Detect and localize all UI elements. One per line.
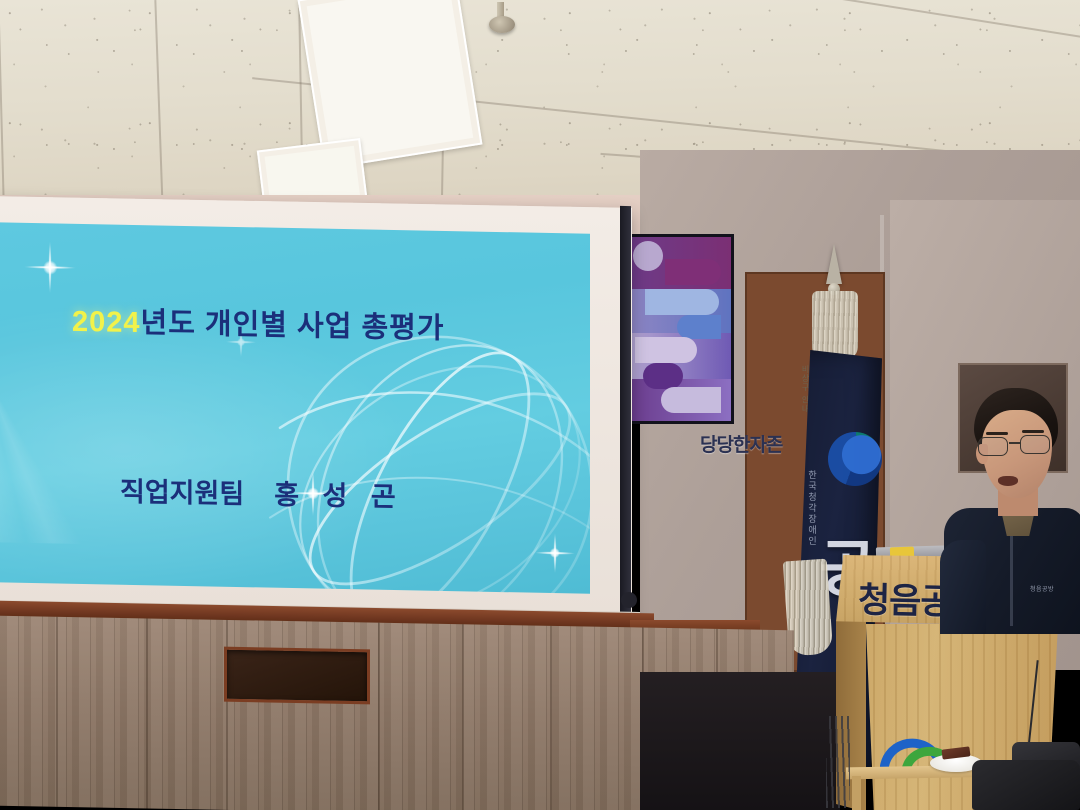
slide-title-rest: 년도 개인별 사업 총평가: [141, 307, 445, 345]
presentation-room-photo: 비상구 안내 당당한자존 한국청각장애인 공: [0, 0, 1080, 810]
panel-seam: [462, 624, 464, 810]
screen-roller-knob[interactable]: [621, 592, 637, 608]
slide-subtitle-team: 직업지원팀: [120, 477, 244, 509]
flag-emblem-icon: [828, 432, 882, 486]
eyeglasses-icon: [978, 435, 1056, 457]
slide-title: 2024년도 개인별 사업 총평가: [72, 298, 445, 347]
wall-banner-poster: [624, 234, 734, 424]
wall-banner-text: 당당한자존: [700, 430, 782, 457]
projected-slide: 2024년도 개인별 사업 총평가 직업지원팀 홍 성 곤: [0, 222, 590, 594]
jacket-logo-text: 청음공방: [1030, 584, 1054, 593]
panel-seam: [56, 617, 58, 807]
banner-logo-art: [627, 237, 731, 421]
light-tube: [307, 0, 474, 160]
globe-wireframe-graphic: [260, 307, 590, 593]
panel-seam: [146, 618, 148, 808]
panel-seam: [378, 623, 380, 810]
floor-shadow-area: [640, 672, 840, 810]
speaker-person: 청음공방: [938, 388, 1080, 628]
slide-subtitle: 직업지원팀 홍 성 곤: [120, 470, 404, 514]
smoke-detector-icon: [489, 16, 515, 33]
panel-seam: [550, 626, 552, 810]
speaker-eyebrow: [1022, 430, 1044, 433]
speaker-mouth: [998, 476, 1018, 486]
wall-control-panel[interactable]: [224, 647, 370, 705]
black-chair-seat[interactable]: [972, 760, 1080, 810]
microphone-stand: [826, 716, 850, 808]
table-leg: [852, 776, 861, 810]
speaker-shoulder: [940, 540, 986, 634]
screen-right-edge: [620, 206, 631, 616]
slide-subtitle-name: 홍 성 곤: [274, 480, 404, 512]
slide-title-year: 2024: [72, 306, 141, 339]
flag-finial-icon: [826, 244, 842, 284]
